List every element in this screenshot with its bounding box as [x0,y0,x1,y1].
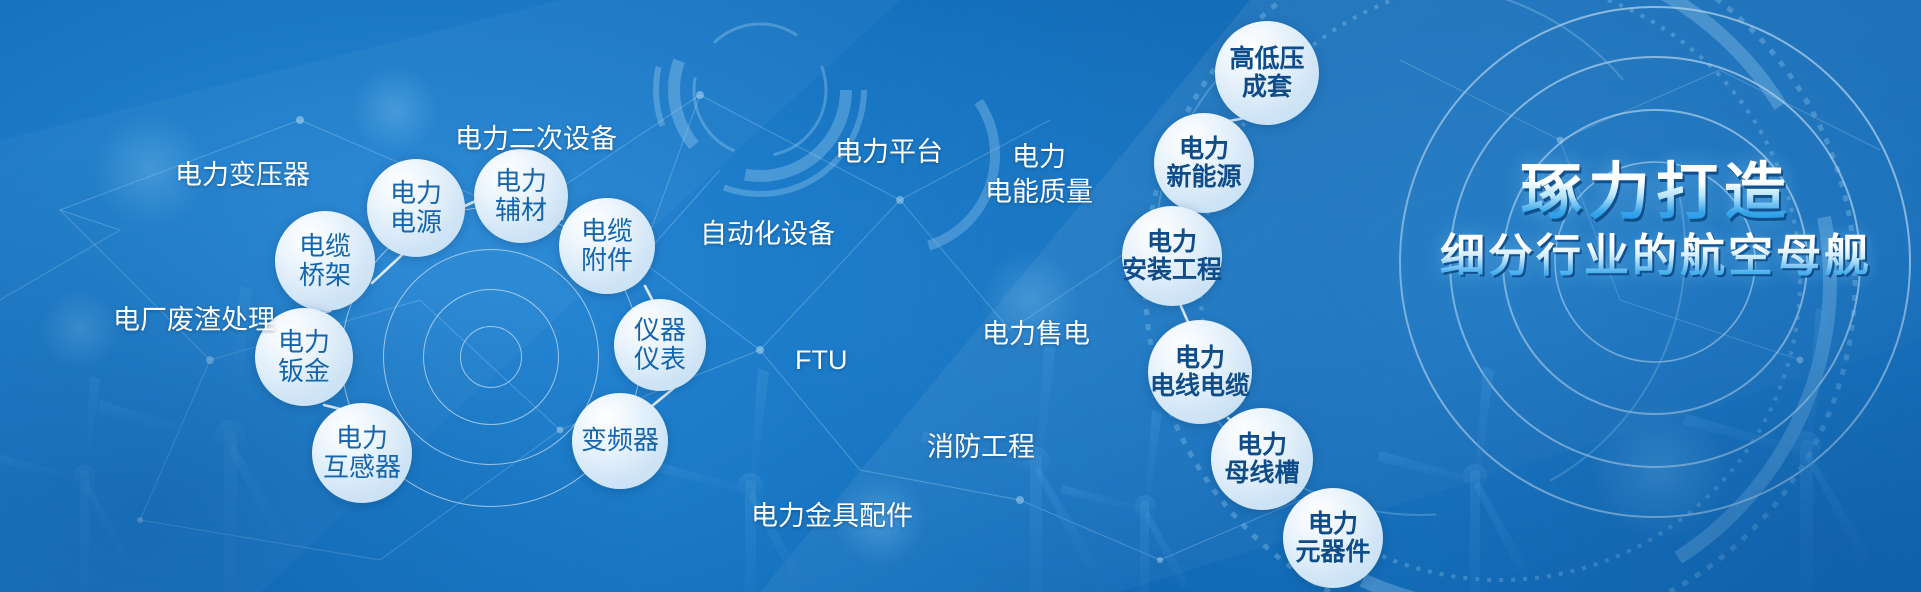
node-bubble-installation[interactable]: 电力安装工程 [1122,206,1222,306]
node-bubble-components[interactable]: 电力元器件 [1283,488,1383,588]
node-bubble-label: 仪表 [634,345,686,374]
label-power-retail: 电力售电 [982,317,1090,352]
node-bubble-label: 安装工程 [1122,256,1222,284]
concentric-ring-4 [460,326,522,388]
label-fire-engineering: 消防工程 [927,430,1035,465]
node-bubble-hv-lv-switchgear[interactable]: 高低压成套 [1215,21,1319,125]
node-bubble-label: 高低压 [1229,45,1304,73]
node-bubble-label: 母线槽 [1224,459,1299,487]
node-bubble-label: 变频器 [581,426,659,455]
headline: 琢力打造 细分行业的航空母舰 [1396,158,1916,283]
node-bubble-label: 附件 [581,246,633,275]
node-bubble-label: 电力 [278,328,330,357]
label-power-quality-line1: 电力 [985,140,1093,175]
background-vignette [0,0,1921,592]
node-bubble-label: 成套 [1242,73,1292,101]
label-plant-waste-treatment: 电厂废渣处理 [113,303,275,338]
hero-banner: 300 090 200 230 220 [0,0,1921,592]
label-power-quality: 电力 电能质量 [985,140,1093,210]
node-bubble-label: 元器件 [1295,538,1370,566]
node-bubble-label: 电力 [1175,344,1225,372]
label-ftu: FTU [795,343,847,378]
node-bubble-label: 仪器 [634,316,686,345]
node-bubble-power-transformer-ct[interactable]: 电力互感器 [312,403,412,503]
node-bubble-cable-accessory[interactable]: 电缆附件 [559,198,655,294]
node-bubble-label: 桥架 [299,261,351,290]
label-power-fittings: 电力金具配件 [751,499,913,534]
node-bubble-cable-tray[interactable]: 电缆桥架 [275,211,375,311]
node-bubble-label: 电力 [1308,510,1358,538]
node-bubble-label: 钣金 [278,357,330,386]
label-power-transformer: 电力变压器 [175,158,310,193]
node-bubble-new-energy[interactable]: 电力新能源 [1154,113,1254,213]
node-bubble-instrument-meter[interactable]: 仪器仪表 [614,299,706,391]
node-bubble-label: 电线电缆 [1150,372,1250,400]
node-bubble-power-auxiliary[interactable]: 电力辅材 [474,149,568,243]
headline-line-1: 琢力打造 [1396,158,1916,227]
label-automation-equipment: 自动化设备 [700,217,835,252]
label-power-secondary-equipment: 电力二次设备 [455,122,617,157]
headline-line-2: 细分行业的航空母舰 [1396,229,1916,283]
node-bubble-label: 电缆 [299,232,351,261]
node-bubble-label: 电力 [1147,228,1197,256]
node-bubble-label: 电力 [1237,431,1287,459]
node-bubble-label: 新能源 [1166,163,1241,191]
node-bubble-label: 互感器 [323,453,401,482]
node-bubble-label: 电缆 [581,217,633,246]
label-power-quality-line2: 电能质量 [985,175,1093,210]
node-bubble-label: 辅材 [495,196,547,225]
node-bubble-label: 电力 [336,424,388,453]
node-bubble-wire-cable[interactable]: 电力电线电缆 [1148,320,1252,424]
node-bubble-label: 电力 [390,179,442,208]
node-bubble-busduct[interactable]: 电力母线槽 [1211,408,1313,510]
node-bubble-label: 电力 [495,167,547,196]
node-bubble-label: 电源 [390,208,442,237]
node-bubble-label: 电力 [1179,135,1229,163]
node-bubble-inverter[interactable]: 变频器 [572,393,668,489]
node-bubble-power-supply[interactable]: 电力电源 [367,159,465,257]
label-power-platform: 电力平台 [835,135,943,170]
